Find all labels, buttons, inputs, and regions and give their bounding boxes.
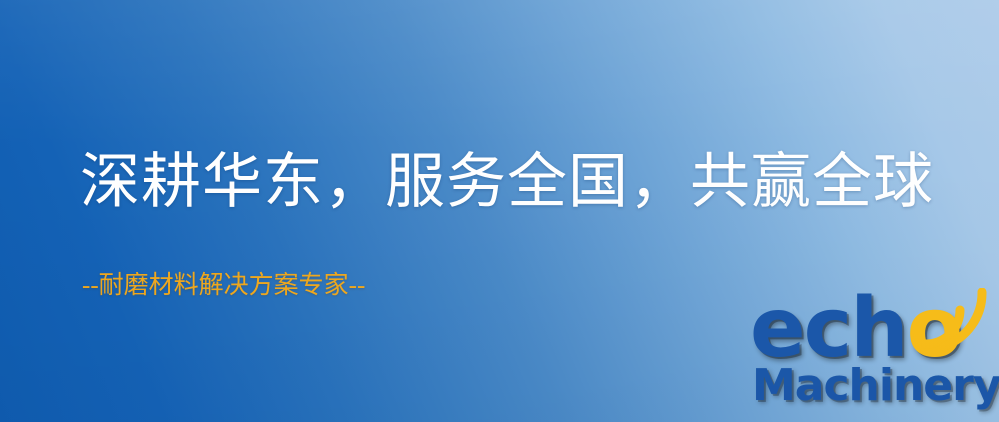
signal-wave-icon [920, 288, 992, 354]
banner-headline: 深耕华东，服务全国，共赢全球 [80, 150, 934, 215]
banner-subtitle: --耐磨材料解决方案专家-- [82, 265, 365, 301]
logo-subtext: Machinery® [752, 364, 999, 408]
logo-wordmark-secondary: Machinery [752, 360, 999, 411]
hero-banner: 深耕华东，服务全国，共赢全球 --耐磨材料解决方案专家-- echo Machi… [0, 0, 999, 422]
company-logo[interactable]: echo Machinery® [744, 292, 992, 418]
